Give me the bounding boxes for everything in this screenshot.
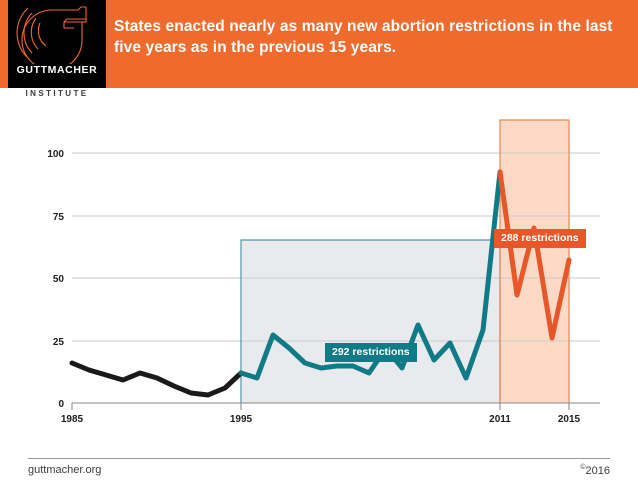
copyright-year: 2016 (586, 465, 610, 477)
callout-288-restrictions: 288 restrictions (494, 229, 586, 248)
svg-text:1995: 1995 (230, 414, 253, 425)
y-axis-tick-labels: 100 75 50 25 0 (47, 149, 64, 410)
infographic-page: GUTTMACHER INSTITUTE States enacted near… (0, 0, 638, 488)
svg-text:1985: 1985 (61, 414, 84, 425)
footer-copyright: ©2016 (580, 464, 610, 477)
footer-website[interactable]: guttmacher.org (28, 464, 101, 476)
band-292-fill (241, 240, 500, 403)
svg-text:25: 25 (53, 337, 65, 348)
page-title: States enacted nearly as many new aborti… (114, 16, 614, 58)
svg-text:0: 0 (58, 399, 64, 410)
svg-text:2015: 2015 (558, 414, 581, 425)
guttmacher-g-spiral-icon (8, 2, 106, 64)
svg-text:75: 75 (53, 212, 65, 223)
svg-text:2011: 2011 (489, 414, 511, 425)
restrictions-line-chart: 100 75 50 25 0 1985 1995 2011 2015 (0, 110, 638, 430)
footer-divider (28, 458, 610, 459)
logo-subtitle: INSTITUTE (8, 88, 106, 99)
x-axis-tick-labels: 1985 1995 2011 2015 (61, 414, 581, 425)
axes (72, 403, 600, 410)
svg-text:100: 100 (47, 149, 64, 160)
guttmacher-logo: GUTTMACHER (8, 0, 106, 88)
series-line-1985-1995 (72, 363, 241, 395)
logo-wordmark: GUTTMACHER (8, 65, 106, 76)
svg-text:50: 50 (53, 274, 65, 285)
chart-container: 100 75 50 25 0 1985 1995 2011 2015 292 r… (0, 110, 638, 430)
callout-292-restrictions: 292 restrictions (325, 343, 417, 362)
header-banner: GUTTMACHER INSTITUTE States enacted near… (0, 0, 638, 88)
